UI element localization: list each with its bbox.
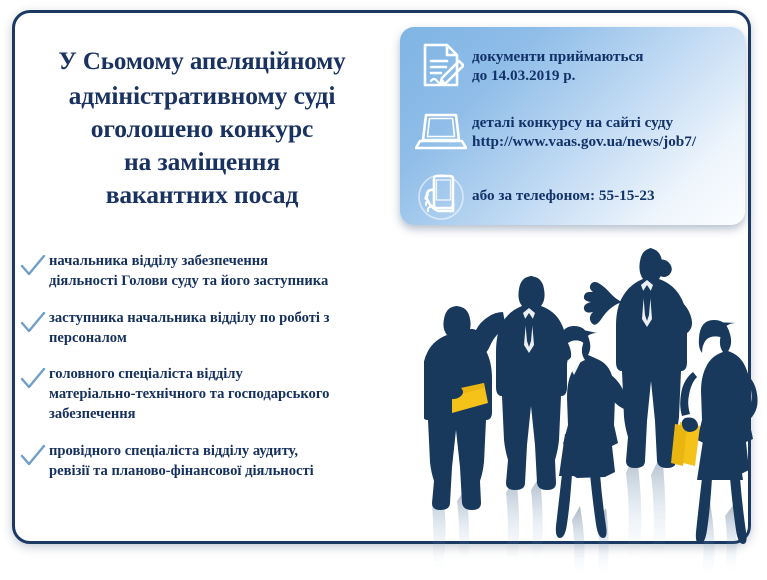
vacancy-text: головного спеціаліста відділу матеріальн… (49, 365, 329, 425)
contact-info-card: документи приймаються до 14.03.2019 р. д… (400, 27, 745, 225)
vacancy-text: начальника відділу забезпечення діяльнос… (49, 252, 328, 292)
deadline-value: до 14.03.2019 р. (472, 66, 643, 85)
list-item: провідного спеціаліста відділу аудиту, р… (20, 442, 440, 482)
info-row-phone: або за телефоном: 55-15-23 (410, 169, 740, 223)
info-row-website: деталі конкурсу на сайті суду http://www… (410, 105, 744, 159)
vacancy-2-line-2: персоналом (49, 329, 330, 349)
page-title-line-1: У Сьомому апеляційному (14, 46, 390, 79)
vacancy-text: провідного спеціаліста відділу аудиту, р… (49, 442, 314, 482)
check-icon (20, 309, 49, 341)
page-title-line-5: вакантних посад (14, 178, 390, 211)
list-item: заступника начальника відділу по роботі … (20, 309, 440, 349)
vacancy-4-line-1: провідного спеціаліста відділу аудиту, (49, 442, 314, 462)
info-row-deadline: документи приймаються до 14.03.2019 р. (410, 35, 740, 97)
vacancy-list: начальника відділу забезпечення діяльнос… (20, 252, 440, 499)
vacancy-4-line-2: ревізії та планово-фінансової діяльності (49, 462, 314, 482)
vacancy-text: заступника начальника відділу по роботі … (49, 309, 330, 349)
vacancy-3-line-1: головного спеціаліста відділу (49, 365, 329, 385)
page-title: У Сьомому апеляційному адміністративному… (14, 46, 390, 211)
page-title-line-2: адміністративному суді (14, 79, 390, 112)
vacancy-3-line-3: забезпечення (49, 405, 329, 425)
deadline-label: документи приймаються (472, 47, 643, 66)
poster-root: У Сьомому апеляційному адміністративному… (0, 0, 767, 580)
vacancy-3-line-2: матеріально-технічного та господарського (49, 385, 329, 405)
laptop-icon (410, 110, 472, 154)
list-item: головного спеціаліста відділу матеріальн… (20, 365, 440, 425)
page-title-line-4: на заміщення (14, 145, 390, 178)
vacancy-1-line-1: начальника відділу забезпечення (49, 252, 328, 272)
page-title-line-3: оголошено конкурс (14, 112, 390, 145)
document-with-pen-icon (410, 41, 472, 91)
check-icon (20, 442, 49, 474)
hand-holding-phone-icon (410, 170, 472, 222)
info-text-deadline: документи приймаються до 14.03.2019 р. (472, 47, 643, 86)
website-url[interactable]: http://www.vaas.gov.ua/news/job7/ (472, 132, 696, 151)
vacancy-1-line-2: діяльності Голови суду та його заступник… (49, 272, 328, 292)
info-text-website: деталі конкурсу на сайті суду http://www… (472, 113, 696, 152)
list-item: начальника відділу забезпечення діяльнос… (20, 252, 440, 292)
info-text-phone: або за телефоном: 55-15-23 (472, 186, 655, 205)
check-icon (20, 365, 49, 397)
website-label: деталі конкурсу на сайті суду (472, 113, 696, 132)
phone-value: або за телефоном: 55-15-23 (472, 186, 655, 205)
vacancy-2-line-1: заступника начальника відділу по роботі … (49, 309, 330, 329)
check-icon (20, 252, 49, 284)
